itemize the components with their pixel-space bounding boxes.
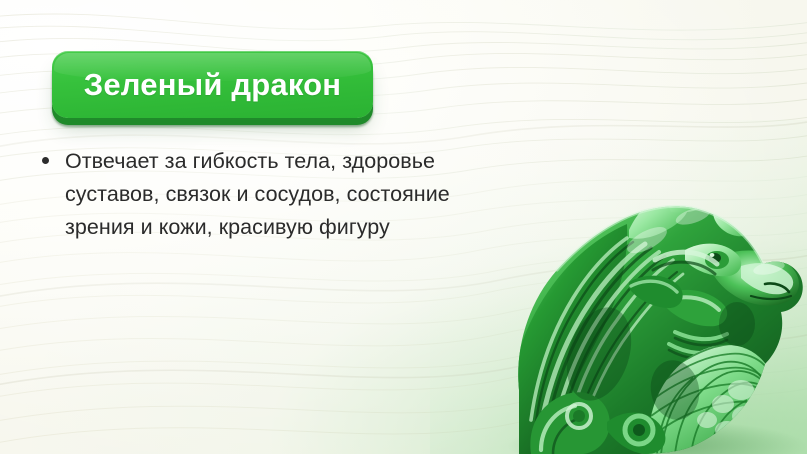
bullet-list: Отвечает за гибкость тела, здоровье суст… bbox=[42, 145, 494, 244]
slide-canvas: Зеленый дракон Отвечает за гибкость тела… bbox=[0, 0, 807, 454]
list-item: Отвечает за гибкость тела, здоровье суст… bbox=[42, 145, 494, 244]
green-jade-dragon-sculpture bbox=[479, 154, 807, 454]
page-title: Зеленый дракон bbox=[84, 69, 341, 100]
bullet-text: Отвечает за гибкость тела, здоровье суст… bbox=[65, 145, 494, 244]
bullet-dot-icon bbox=[42, 157, 49, 164]
title-badge: Зеленый дракон bbox=[52, 51, 373, 118]
